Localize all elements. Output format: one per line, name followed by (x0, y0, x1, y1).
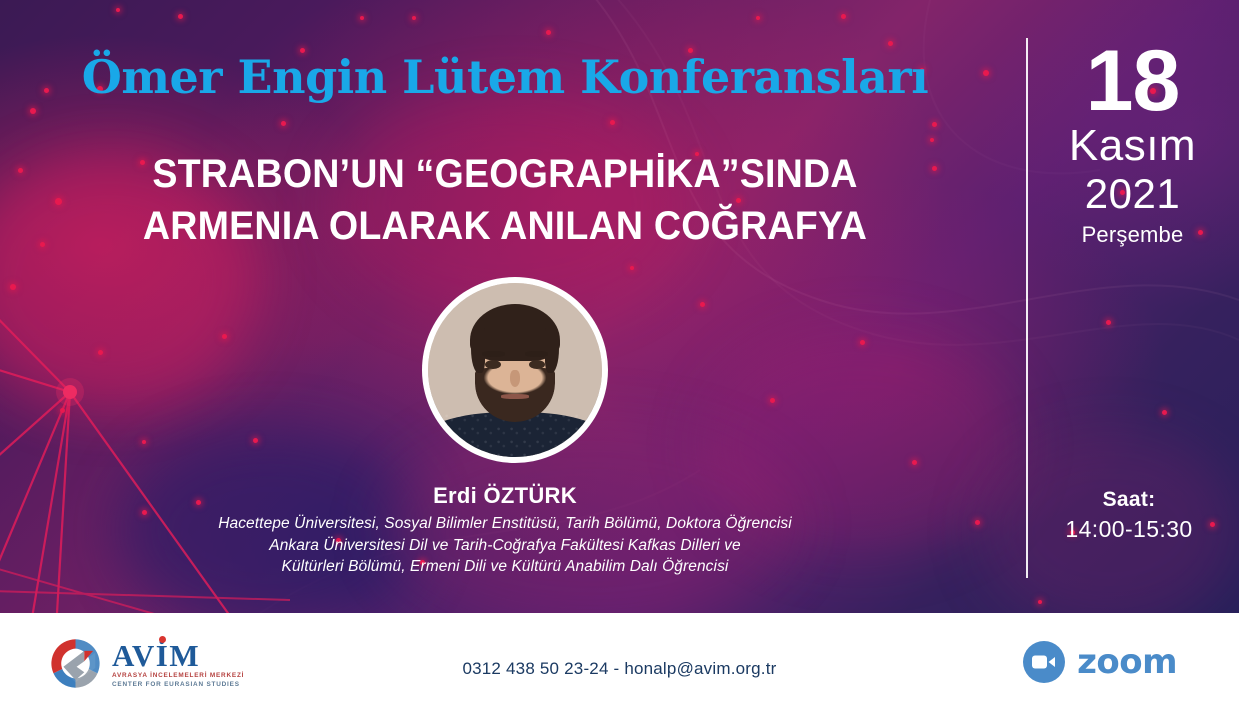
photo-eyebrow-right (525, 351, 548, 357)
particle-dot (1106, 320, 1111, 325)
particle-dot (142, 440, 146, 444)
particle-dot (10, 284, 16, 290)
particle-dot (60, 408, 65, 413)
particle-dot (412, 16, 416, 20)
particle-dot (930, 138, 934, 142)
page-title: STRABON’UN “GEOGRAPHİKA”SINDA ARMENIA OL… (30, 148, 979, 252)
particle-dot (975, 520, 980, 525)
particle-dot (1038, 600, 1042, 604)
date-month: Kasım (1040, 122, 1225, 170)
photo-eye-right (529, 360, 545, 369)
zoom-wordmark: zoom (1077, 642, 1177, 682)
date-day: 18 (1040, 40, 1225, 122)
avim-subtitle-en: CENTER FOR EURASIAN STUDIES (112, 680, 244, 689)
particle-dot (18, 168, 23, 173)
particle-dot (860, 340, 865, 345)
affiliation-line-3: Kültürleri Bölümü, Ermeni Dili ve Kültür… (95, 556, 915, 578)
particle-dot (841, 14, 846, 19)
speaker-affiliation: Hacettepe Üniversitesi, Sosyal Bilimler … (95, 513, 915, 578)
conference-poster: Ömer Engin Lütem Konferansları STRABON’U… (0, 0, 1239, 720)
particle-dot (630, 266, 634, 270)
particle-dot (770, 398, 775, 403)
particle-dot (610, 120, 615, 125)
photo-eyebrow-left (482, 351, 505, 357)
particle-dot (116, 8, 120, 12)
zoom-logo[interactable]: zoom (1023, 641, 1177, 683)
particle-dot (932, 122, 937, 127)
time-label: Saat: (1040, 488, 1218, 512)
photo-hair-left (471, 328, 485, 373)
time-value: 14:00-15:30 (1040, 516, 1218, 543)
affiliation-line-2: Ankara Üniversitesi Dil ve Tarih-Coğrafy… (95, 535, 915, 557)
video-camera-icon (1023, 641, 1065, 683)
photo-mouth (501, 394, 529, 399)
particle-dot (546, 30, 551, 35)
avim-red-dot-icon (159, 636, 166, 643)
event-time: Saat: 14:00-15:30 (1040, 488, 1218, 543)
particle-dot (30, 108, 36, 114)
particle-dot (360, 16, 364, 20)
vertical-divider (1026, 38, 1028, 578)
particle-dot (98, 350, 103, 355)
particle-dot (253, 438, 258, 443)
footer-bar: AVİM AVRASYA İNCELEMELERİ MERKEZİ CENTER… (0, 613, 1239, 720)
particle-dot (912, 460, 917, 465)
particle-dot (700, 302, 705, 307)
speaker-name: Erdi ÖZTÜRK (0, 483, 1010, 509)
particle-dot (1162, 410, 1167, 415)
particle-dot (888, 41, 893, 46)
series-title: Ömer Engin Lütem Konferansları (0, 50, 1010, 104)
page-title-line-1: STRABON’UN “GEOGRAPHİKA”SINDA (152, 152, 857, 196)
date-year: 2021 (1040, 170, 1225, 218)
hero-background: Ömer Engin Lütem Konferansları STRABON’U… (0, 0, 1239, 613)
event-date: 18 Kasım 2021 Perşembe (1040, 40, 1225, 250)
particle-dot (222, 334, 227, 339)
page-title-line-2: ARMENIA OLARAK ANILAN COĞRAFYA (30, 200, 979, 252)
photo-eye-left (485, 360, 501, 369)
particle-dot (281, 121, 286, 126)
affiliation-line-1: Hacettepe Üniversitesi, Sosyal Bilimler … (95, 513, 915, 535)
particle-dot (178, 14, 183, 19)
date-weekday: Perşembe (1040, 220, 1225, 250)
avatar (422, 277, 608, 463)
particle-dot (756, 16, 760, 20)
speaker-photo (428, 283, 602, 457)
